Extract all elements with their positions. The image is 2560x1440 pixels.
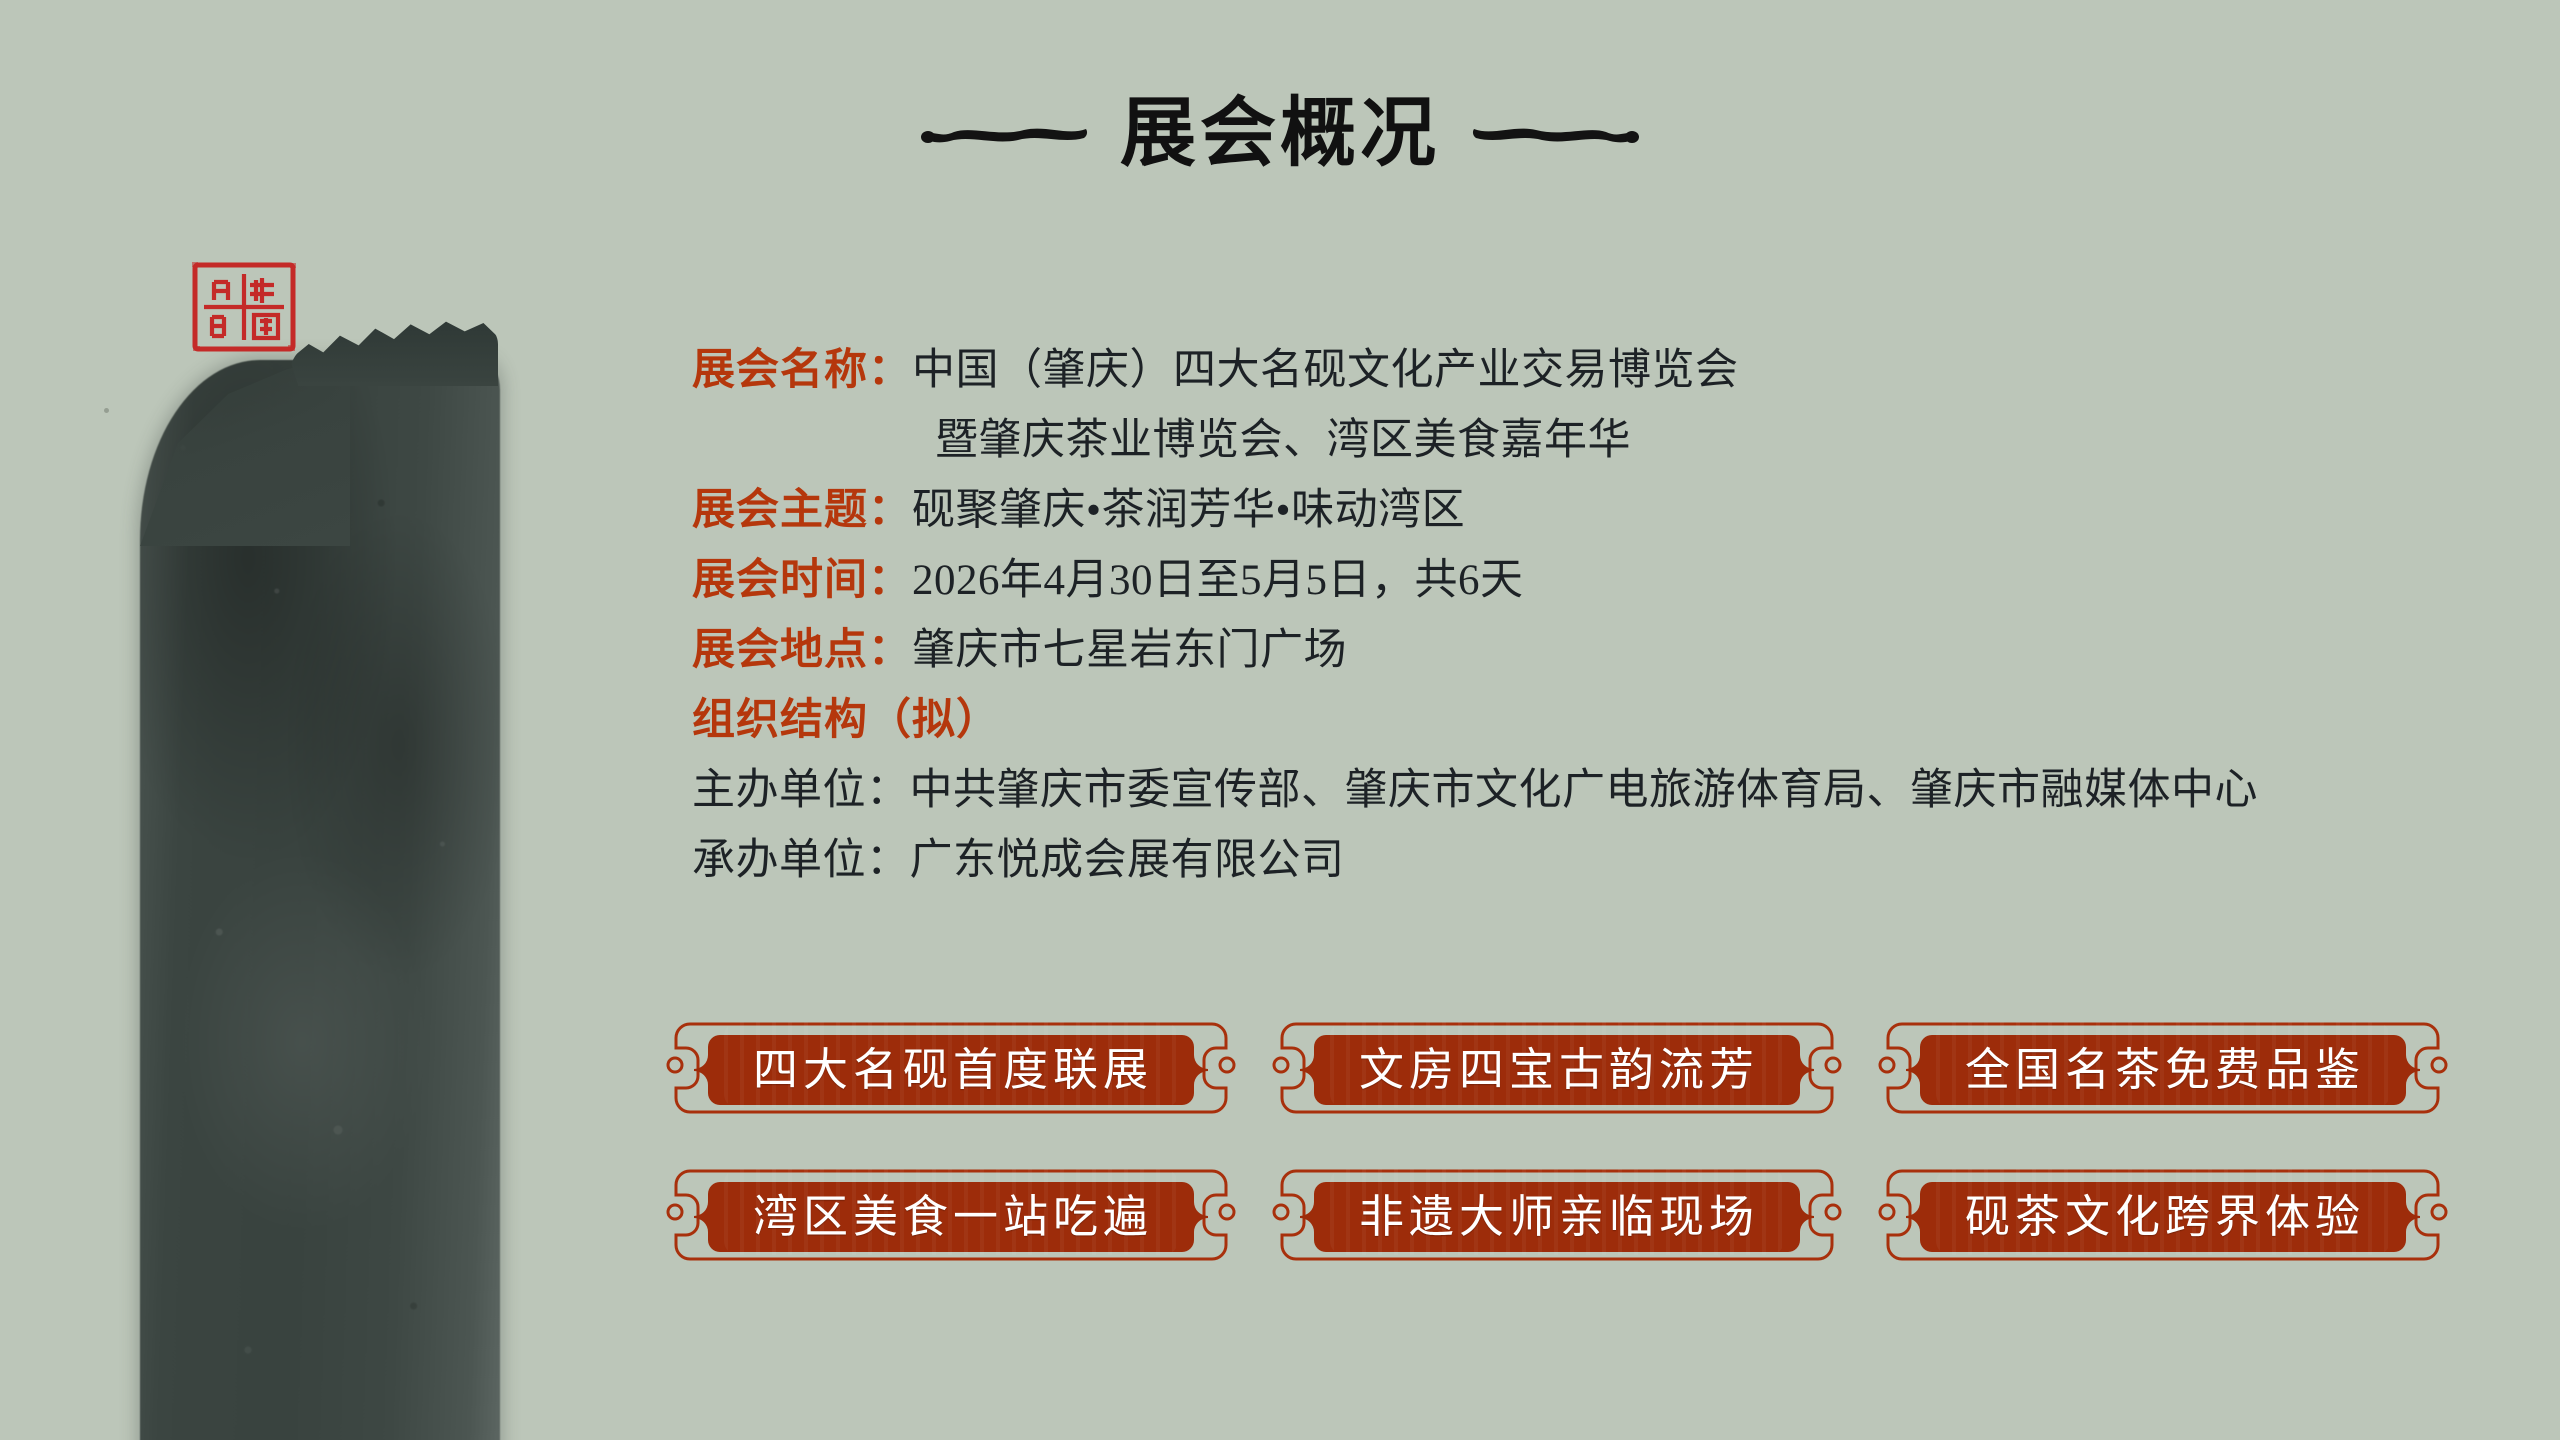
- info-value-name: 中国（肇庆）四大名砚文化产业交易博览会: [912, 347, 1739, 394]
- page-title-text: 展会概况: [1120, 96, 1440, 172]
- ink-stroke-top-edge: [290, 316, 498, 386]
- event-info-block: 展会名称：中国（肇庆）四大名砚文化产业交易博览会 暨肇庆茶业博览会、湾区美食嘉年…: [692, 336, 2462, 896]
- highlight-badge-label: 湾区美食一站吃遍: [662, 1157, 1240, 1267]
- info-value-organizer: 承办单位：广东悦成会展有限公司: [692, 837, 1345, 884]
- slide-canvas: 展会概况 展会名称：中国（肇庆）四大名砚文化产业交易博览会 暨肇庆茶业博览会、湾…: [0, 0, 2560, 1440]
- info-label-name: 展会名称：: [692, 347, 912, 394]
- info-label-date: 展会时间：: [692, 557, 912, 604]
- highlight-badge-grid: 四大名砚首度联展 文房四宝古韵流芳 全国名茶免费品鉴: [662, 1010, 2452, 1267]
- brush-dash-icon-left: [920, 117, 1090, 152]
- brush-dash-icon-right: [1470, 117, 1640, 152]
- highlight-badge[interactable]: 砚茶文化跨界体验: [1874, 1157, 2452, 1267]
- info-row-name: 展会名称：中国（肇庆）四大名砚文化产业交易博览会: [692, 336, 2462, 406]
- chinese-seal-stamp: [190, 260, 298, 354]
- info-heading-organization: 组织结构（拟）: [692, 697, 1000, 744]
- info-row-org-heading: 组织结构（拟）: [692, 686, 2462, 756]
- highlight-badge-label: 非遗大师亲临现场: [1268, 1157, 1846, 1267]
- highlight-badge[interactable]: 文房四宝古韵流芳: [1268, 1010, 1846, 1120]
- info-row-date: 展会时间：2026年4月30日至5月5日，共6天: [692, 546, 2462, 616]
- highlight-badge-label: 砚茶文化跨界体验: [1874, 1157, 2452, 1267]
- info-label-theme: 展会主题：: [692, 487, 912, 534]
- info-value-venue: 肇庆市七星岩东门广场: [912, 627, 1347, 674]
- page-title: 展会概况: [0, 96, 2560, 172]
- highlight-badge-label: 四大名砚首度联展: [662, 1010, 1240, 1120]
- info-value-date: 2026年4月30日至5月5日，共6天: [912, 557, 1524, 604]
- info-value-name-cont: 暨肇庆茶业博览会、湾区美食嘉年华: [935, 417, 1631, 464]
- info-row-organizer: 承办单位：广东悦成会展有限公司: [692, 826, 2462, 896]
- info-row-venue: 展会地点：肇庆市七星岩东门广场: [692, 616, 2462, 686]
- highlight-badge[interactable]: 全国名茶免费品鉴: [1874, 1010, 2452, 1120]
- highlight-badge-label: 全国名茶免费品鉴: [1874, 1010, 2452, 1120]
- info-row-name-cont: 暨肇庆茶业博览会、湾区美食嘉年华: [692, 406, 2462, 476]
- info-row-host: 主办单位：中共肇庆市委宣传部、肇庆市文化广电旅游体育局、肇庆市融媒体中心: [692, 756, 2462, 826]
- info-value-theme: 砚聚肇庆•茶润芳华•味动湾区: [912, 487, 1465, 534]
- ink-brush-stroke: [140, 360, 500, 1440]
- highlight-badge[interactable]: 四大名砚首度联展: [662, 1010, 1240, 1120]
- highlight-badge[interactable]: 湾区美食一站吃遍: [662, 1157, 1240, 1267]
- info-value-host: 主办单位：中共肇庆市委宣传部、肇庆市文化广电旅游体育局、肇庆市融媒体中心: [692, 767, 2258, 814]
- highlight-badge-label: 文房四宝古韵流芳: [1268, 1010, 1846, 1120]
- info-row-theme: 展会主题：砚聚肇庆•茶润芳华•味动湾区: [692, 476, 2462, 546]
- ink-speck: [104, 408, 109, 413]
- info-label-venue: 展会地点：: [692, 627, 912, 674]
- highlight-badge[interactable]: 非遗大师亲临现场: [1268, 1157, 1846, 1267]
